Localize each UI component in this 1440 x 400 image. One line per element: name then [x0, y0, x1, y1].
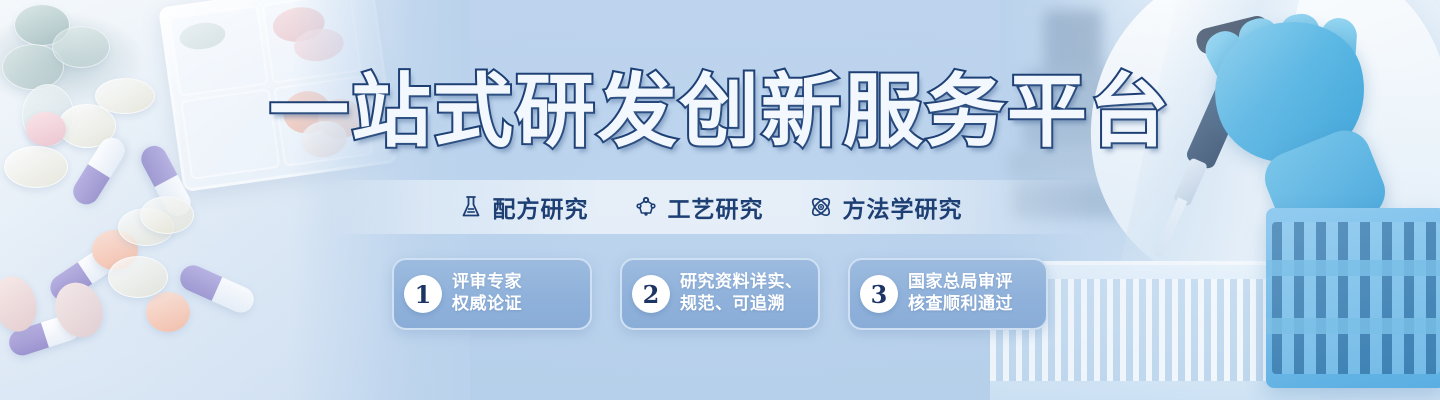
- card-line-2: 规范、可追溯: [680, 294, 803, 316]
- card-line-1: 评审专家: [452, 272, 522, 294]
- card-number-badge: 2: [632, 275, 670, 313]
- card-number-badge: 1: [404, 275, 442, 313]
- molecule-icon: [633, 194, 659, 220]
- service-list: 配方研究 工艺研究: [330, 180, 1090, 234]
- card-line-1: 研究资料详实、: [680, 272, 803, 294]
- feature-card-1[interactable]: 1 评审专家 权威论证: [392, 258, 592, 330]
- page-title: 一站式研发创新服务平台: [0, 72, 1440, 152]
- flask-icon: [458, 194, 484, 220]
- feature-card-3[interactable]: 3 国家总局审评 核查顺利通过: [848, 258, 1048, 330]
- atom-icon: [808, 194, 834, 220]
- service-label: 工艺研究: [668, 190, 764, 224]
- promo-banner: 一站式研发创新服务平台 配方研究: [0, 0, 1440, 400]
- service-item-methodology[interactable]: 方法学研究: [808, 190, 963, 224]
- card-line-2: 核查顺利通过: [908, 294, 1013, 316]
- service-item-process[interactable]: 工艺研究: [633, 190, 764, 224]
- service-item-formulation[interactable]: 配方研究: [458, 190, 589, 224]
- card-line-1: 国家总局审评: [908, 272, 1013, 294]
- service-label: 方法学研究: [843, 190, 963, 224]
- card-number-badge: 3: [860, 275, 898, 313]
- card-line-2: 权威论证: [452, 294, 522, 316]
- feature-card-list: 1 评审专家 权威论证 2 研究资料详实、 规范、可追溯 3 国家总局审评 核查…: [0, 258, 1440, 330]
- service-label: 配方研究: [493, 190, 589, 224]
- feature-card-2[interactable]: 2 研究资料详实、 规范、可追溯: [620, 258, 820, 330]
